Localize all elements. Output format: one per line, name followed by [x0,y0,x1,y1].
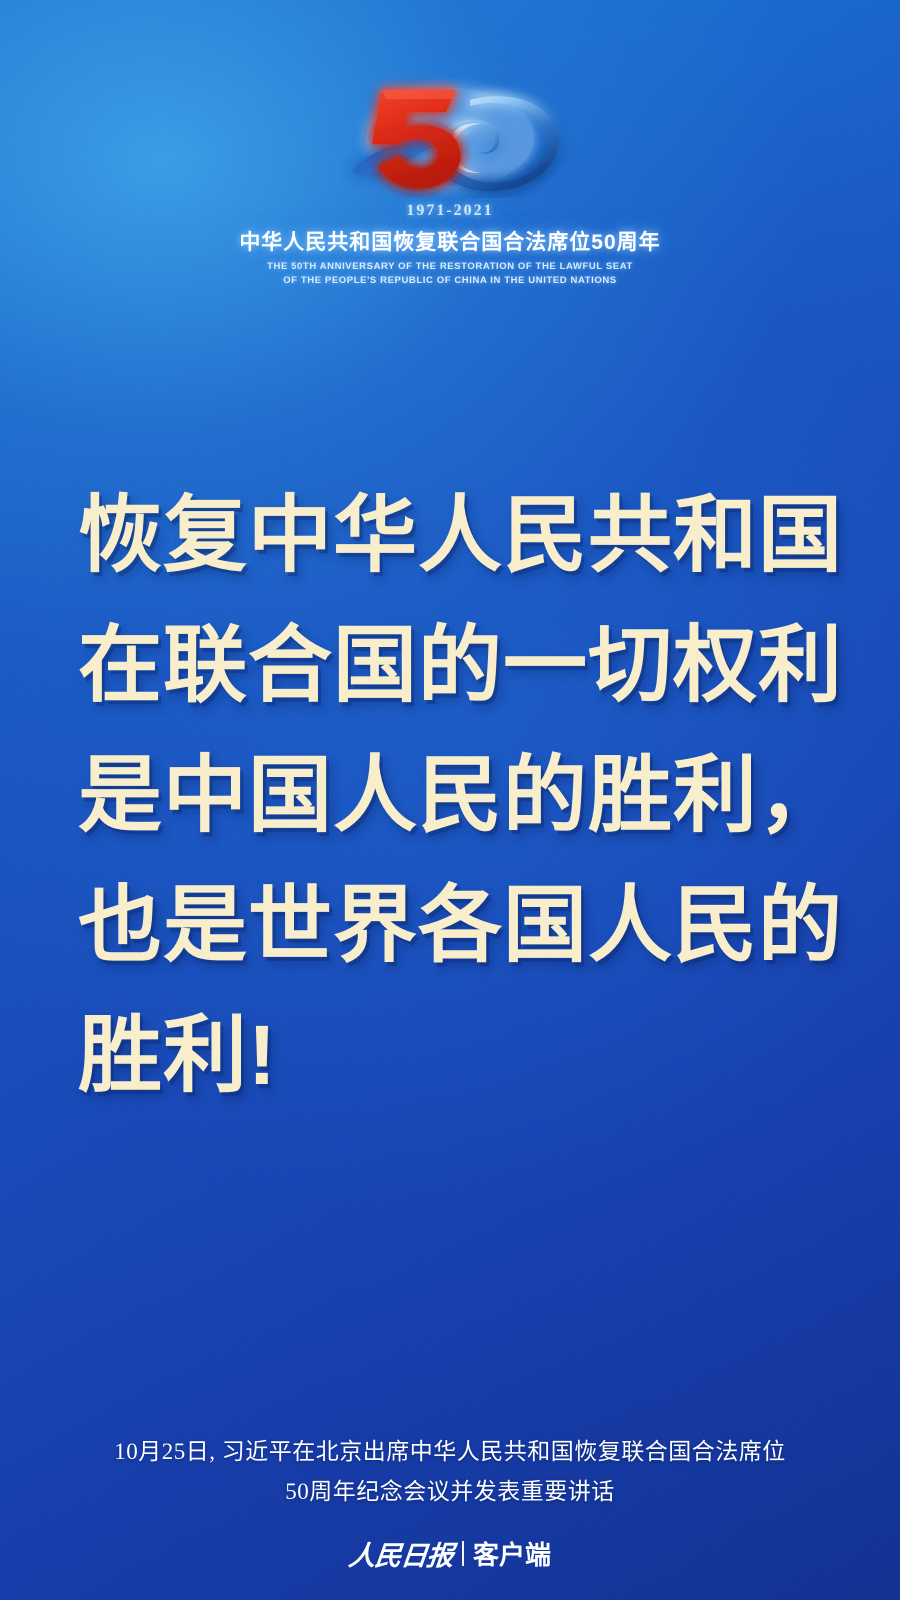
emblem-years: 1971-2021 [0,202,900,220]
headline-block: 恢复中华人民共和国 在联合国的一切权利 是中国人民的胜利， 也是世界各国人民的 … [78,470,858,1120]
brand-name-peoples-daily: 人民日报 [347,1534,455,1573]
headline-line-4: 也是世界各国人民的 [78,860,858,990]
caption-line-2: 50周年纪念会议并发表重要讲话 [0,1472,900,1512]
caption-line-1: 10月25日, 习近平在北京出席中华人民共和国恢复联合国合法席位 [0,1432,900,1472]
emblem-title-english-line1: THE 50TH ANNIVERSARY OF THE RESTORATION … [0,260,900,274]
emblem-50-mark [320,78,580,198]
footer-brand: 人民日报 客户端 [0,1534,900,1573]
headline-line-5: 胜利! [78,990,858,1120]
poster-canvas: 1971-2021 中华人民共和国恢复联合国合法席位50周年 THE 50TH … [0,0,900,1600]
headline-line-1: 恢复中华人民共和国 [78,470,858,600]
brand-product-app: 客户端 [473,1535,551,1572]
headline-line-2: 在联合国的一切权利 [78,600,858,730]
emblem-title-english-line2: OF THE PEOPLE'S REPUBLIC OF CHINA IN THE… [0,274,900,288]
emblem-title-chinese: 中华人民共和国恢复联合国合法席位50周年 [0,226,900,256]
caption-block: 10月25日, 习近平在北京出席中华人民共和国恢复联合国合法席位 50周年纪念会… [0,1432,900,1512]
emblem-50-graphic [320,78,580,198]
anniversary-emblem: 1971-2021 中华人民共和国恢复联合国合法席位50周年 THE 50TH … [0,78,900,289]
brand-divider [462,1541,464,1566]
headline-line-3: 是中国人民的胜利， [78,730,858,860]
